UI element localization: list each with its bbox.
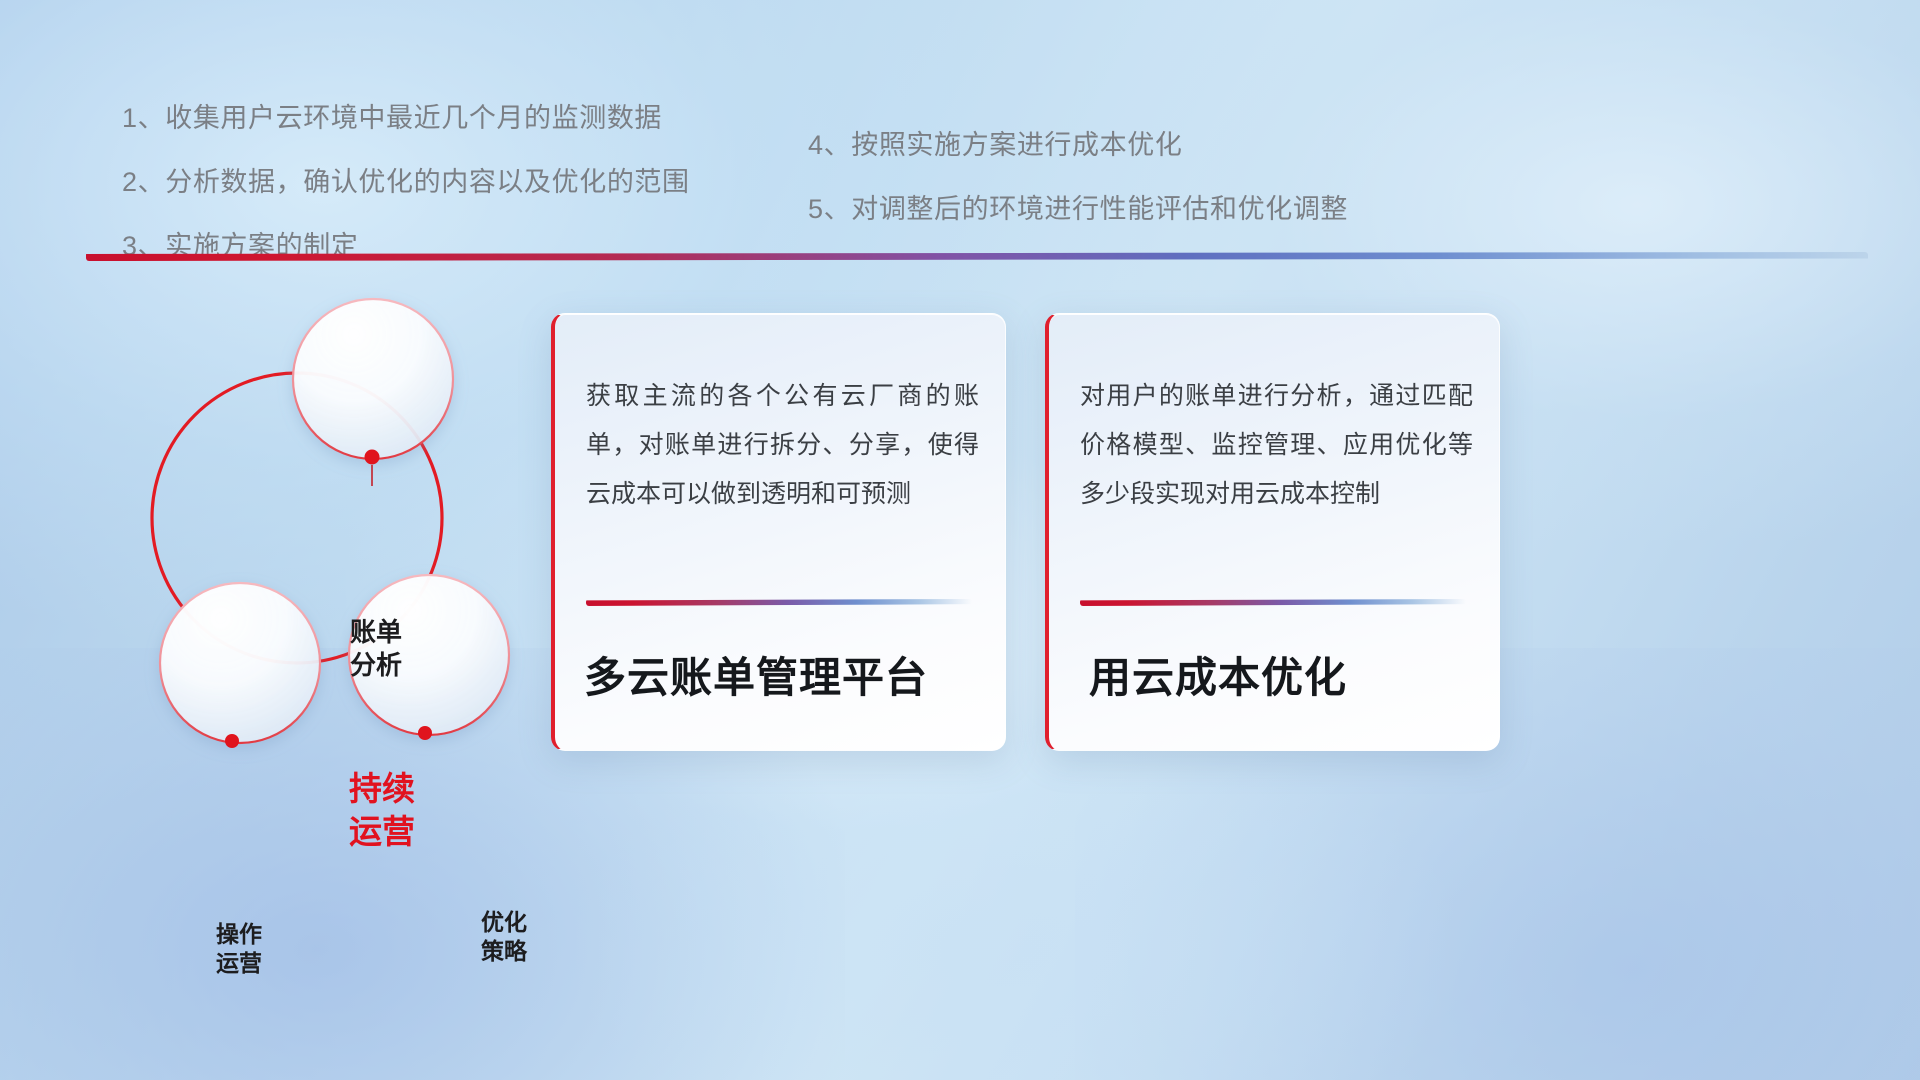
venn-circle-top [293, 299, 453, 459]
feature-card-cost-optimization[interactable]: 对用户的账单进行分析，通过匹配价格模型、监控管理、应用优化等多少段实现对用云成本… [1045, 313, 1500, 751]
section-divider [86, 252, 1868, 261]
background-glow-bottomcenter [576, 713, 1459, 1080]
venn-diagram-svg [75, 283, 545, 773]
card-body-text: 获取主流的各个公有云厂商的账单，对账单进行拆分、分享，使得云成本可以做到透明和可… [586, 372, 979, 518]
venn-label-operations: 操作 运营 [167, 920, 311, 979]
card-body-text: 对用户的账单进行分析，通过匹配价格模型、监控管理、应用优化等多少段实现对用云成本… [1080, 372, 1473, 518]
venn-label-bill-analysis: 账单 分析 [301, 616, 451, 683]
step-item-5: 5、对调整后的环境进行性能评估和优化调整 [808, 187, 1348, 226]
feature-card-billing-platform[interactable]: 获取主流的各个公有云厂商的账单，对账单进行拆分、分享，使得云成本可以做到透明和可… [551, 313, 1006, 751]
step-item-4: 4、按照实施方案进行成本优化 [808, 123, 1348, 162]
venn-node-bottom-right [418, 726, 432, 740]
step-item-2: 2、分析数据，确认优化的内容以及优化的范围 [122, 160, 690, 199]
card-title: 用云成本优化 [1089, 644, 1479, 705]
venn-label-continuous-operation: 持续 运营 [312, 768, 452, 854]
section-divider-bar [86, 252, 1868, 261]
venn-node-top [365, 450, 380, 465]
venn-node-bottom-left [225, 734, 239, 748]
card-divider [1080, 599, 1466, 606]
venn-circle-bottom-left [160, 583, 320, 743]
step-item-1: 1、收集用户云环境中最近几个月的监测数据 [122, 96, 690, 135]
steps-list-right: 4、按照实施方案进行成本优化 5、对调整后的环境进行性能评估和优化调整 [808, 123, 1348, 251]
card-divider [586, 599, 972, 606]
card-title: 多云账单管理平台 [584, 644, 985, 705]
venn-label-optimization-strategy: 优化 策略 [430, 908, 578, 967]
venn-diagram: 账单 分析 持续 运营 操作 运营 优化 策略 [75, 283, 545, 773]
